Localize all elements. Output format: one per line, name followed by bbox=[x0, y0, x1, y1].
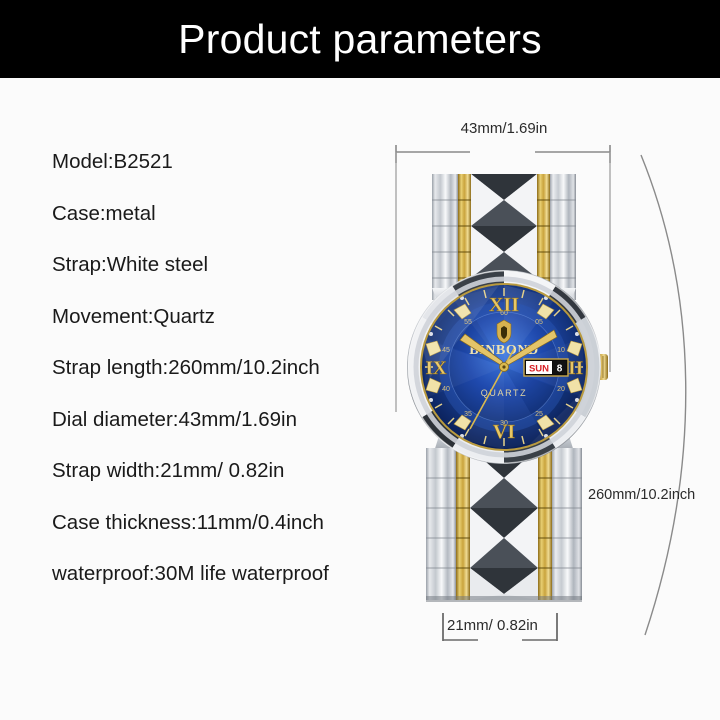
svg-text:20: 20 bbox=[557, 386, 565, 393]
dim-label-dial-diameter: 43mm/1.69in bbox=[404, 120, 604, 137]
dial-day-date-window: SUN 8 bbox=[524, 359, 568, 376]
spec-item-waterproof: waterproof:30M life waterproof bbox=[52, 564, 382, 585]
svg-text:40: 40 bbox=[442, 386, 450, 393]
spec-item-case-thickness: Case thickness:11mm/0.4inch bbox=[52, 513, 382, 534]
spec-list: Model:B2521 Case:metal Strap:White steel… bbox=[52, 152, 382, 616]
numeral-twelve: XII bbox=[489, 294, 519, 316]
spec-item-model: Model:B2521 bbox=[52, 152, 382, 173]
spec-item-movement: Movement:Quartz bbox=[52, 307, 382, 328]
dim-strap-length-arc bbox=[641, 155, 686, 635]
svg-text:05: 05 bbox=[535, 319, 543, 326]
dim-label-strap-width: 21mm/ 0.82in bbox=[447, 617, 538, 634]
brand-crest-icon bbox=[497, 320, 511, 343]
spec-item-strap-width: Strap width:21mm/ 0.82in bbox=[52, 461, 382, 482]
dial-date-text: 8 bbox=[557, 364, 563, 375]
svg-text:10: 10 bbox=[557, 347, 565, 354]
page-title: Product parameters bbox=[178, 19, 542, 60]
dial-day-text: SUN bbox=[529, 364, 549, 375]
spec-item-case: Case:metal bbox=[52, 204, 382, 225]
page-header: Product parameters bbox=[0, 0, 720, 78]
spec-item-strap-length: Strap length:260mm/10.2inch bbox=[52, 358, 382, 379]
bracelet-facet-pattern-lower bbox=[470, 448, 538, 600]
spec-item-dial-diameter: Dial diameter:43mm/1.69in bbox=[52, 410, 382, 431]
watch-product-image: 60 05 10 20 25 30 35 40 45 55 bbox=[396, 148, 612, 608]
numeral-six: VI bbox=[493, 421, 515, 443]
spec-item-strap: Strap:White steel bbox=[52, 255, 382, 276]
svg-text:25: 25 bbox=[535, 411, 543, 418]
